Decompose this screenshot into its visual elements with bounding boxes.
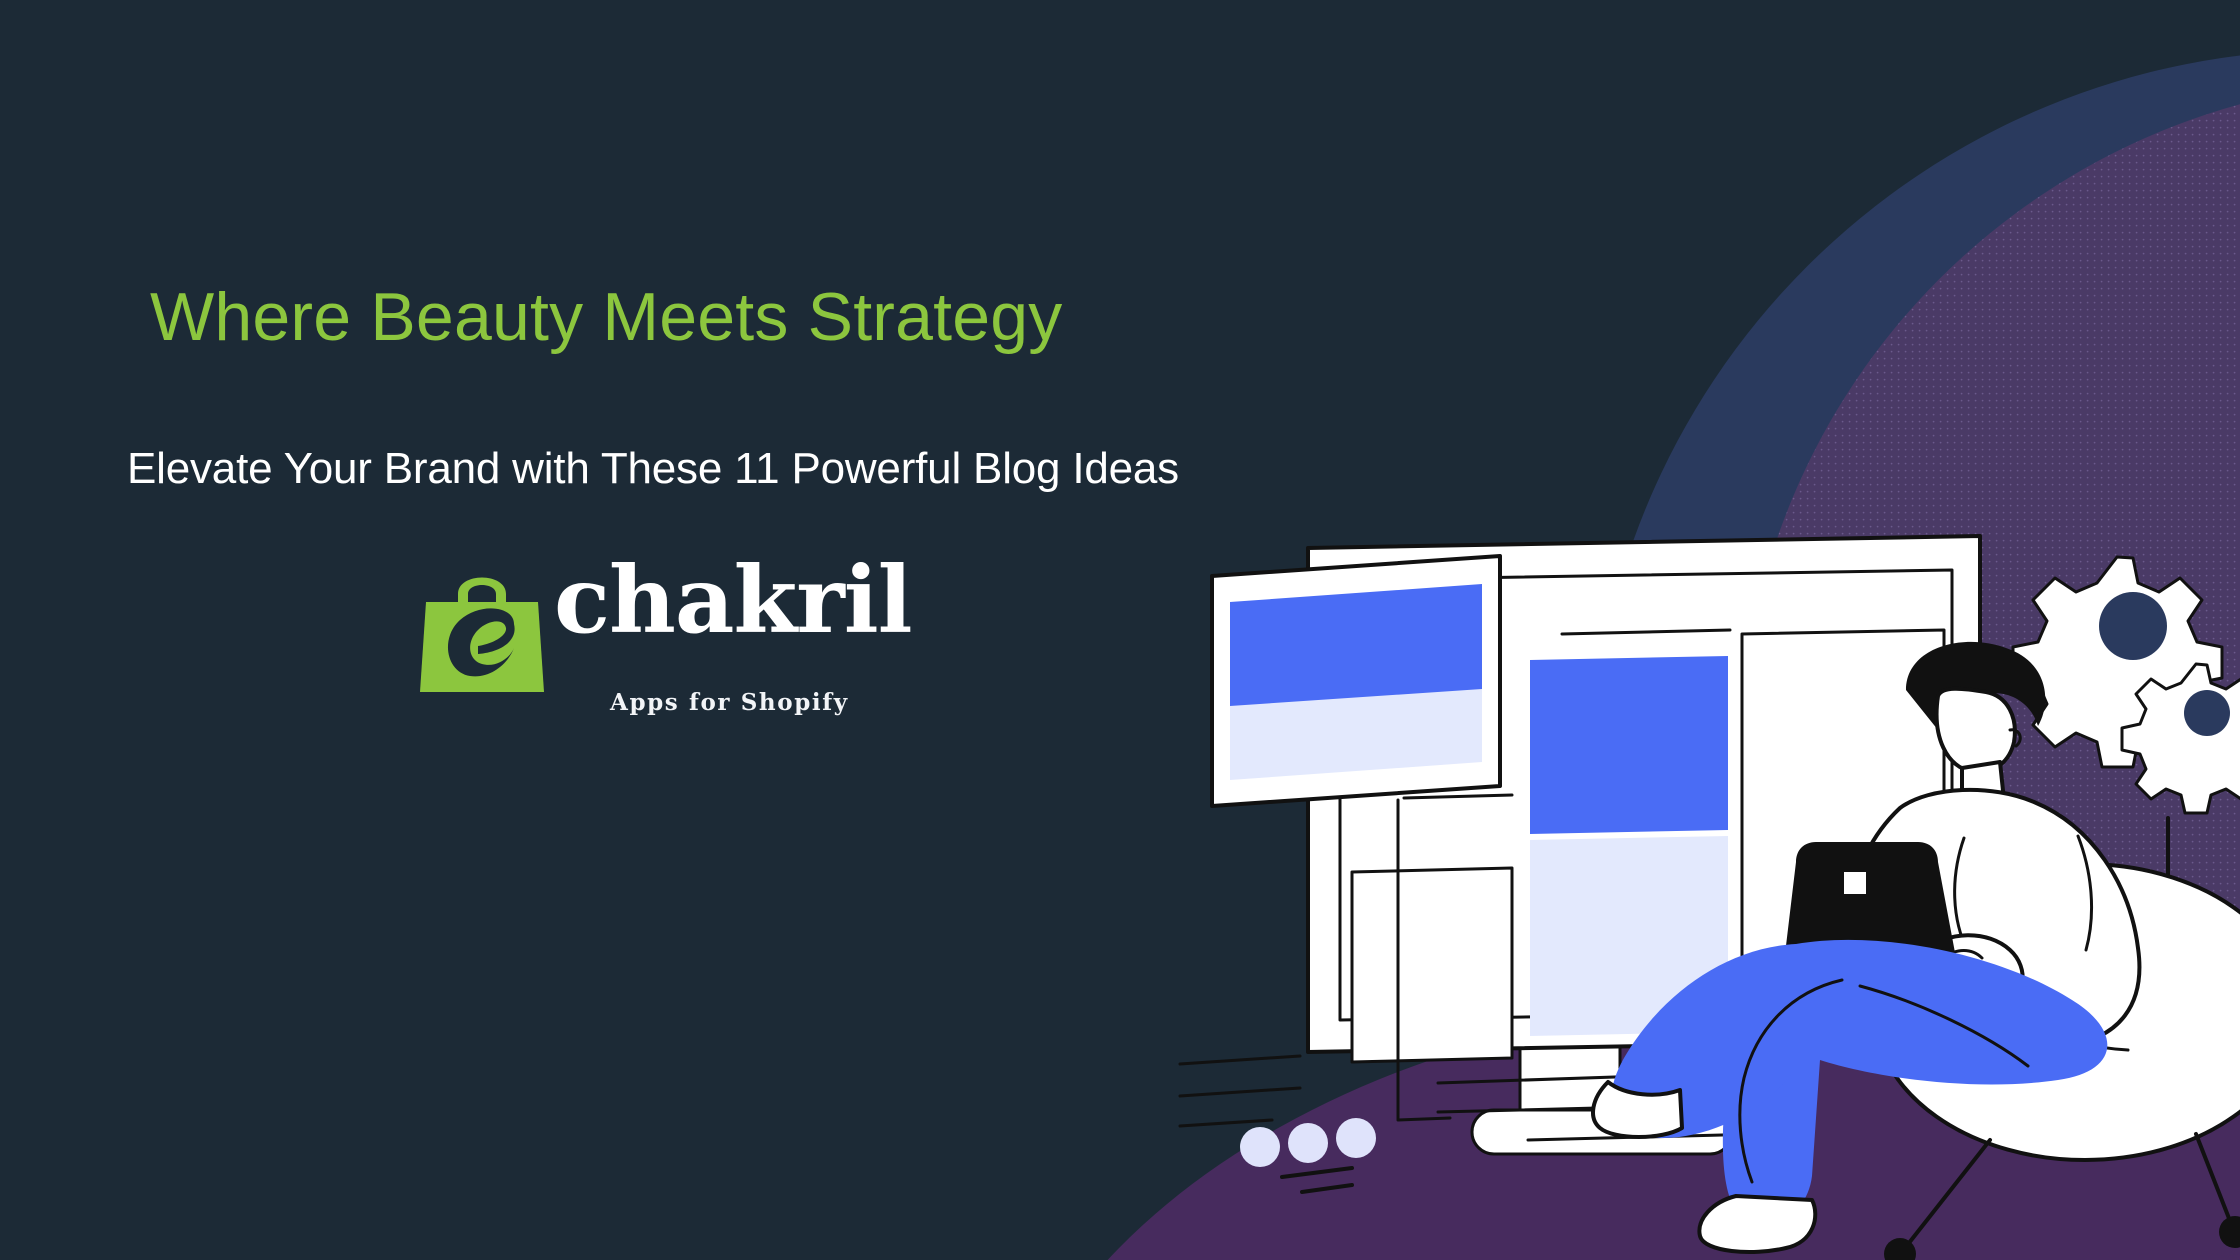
hero-text-column: Where Beauty Meets Strategy Elevate Your…: [0, 0, 1300, 1260]
page-subtitle: Elevate Your Brand with These 11 Powerfu…: [127, 447, 1179, 491]
slide-canvas: Where Beauty Meets Strategy Elevate Your…: [0, 0, 2240, 1260]
logo-wordmark: chakril: [554, 554, 912, 646]
page-title: Where Beauty Meets Strategy: [150, 283, 1062, 351]
logo-tagline: Apps for Shopify: [610, 689, 849, 716]
shopping-bag-icon: [418, 560, 546, 696]
brand-logo[interactable]: chakril Apps for Shopify: [418, 558, 848, 723]
